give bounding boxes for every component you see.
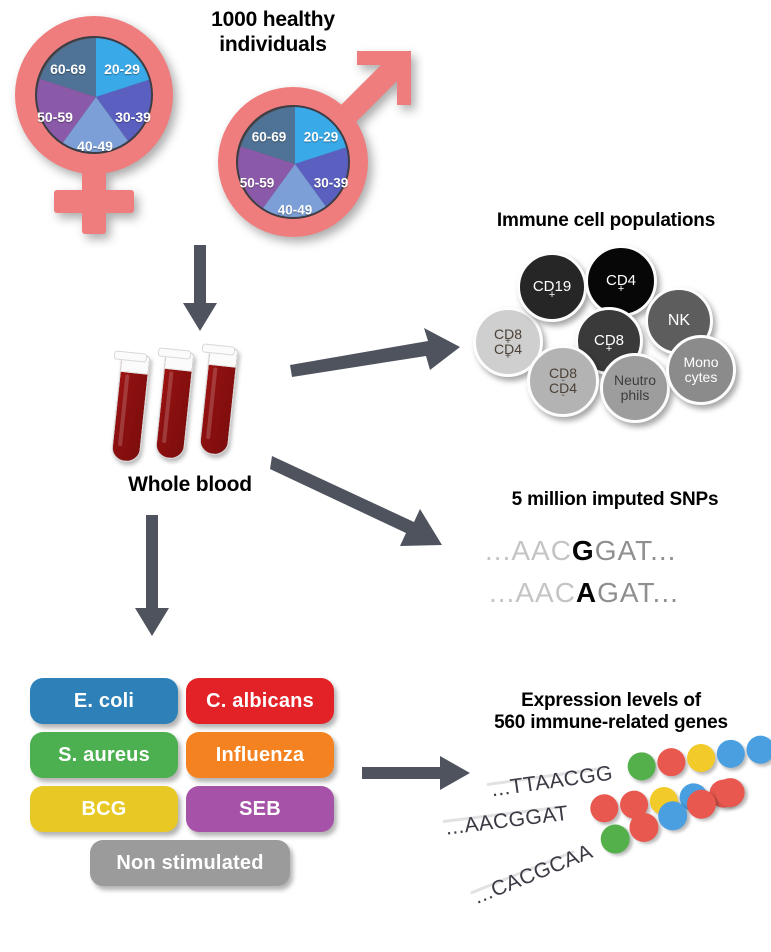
gene-bead-yellow — [685, 742, 717, 774]
snp-allele-2-prefix: ...AAC — [489, 577, 576, 608]
female-symbol-crossbar — [54, 190, 134, 213]
blood-tube-lip — [114, 350, 148, 362]
snp-allele-2-variant: A — [576, 577, 597, 608]
snp-allele-1: ...AACGGAT... — [485, 535, 676, 567]
stimulus-influenza[interactable]: Influenza — [186, 732, 334, 778]
snp-allele-2-suffix: GAT... — [597, 577, 679, 608]
arrow-blood-to-stimuli — [132, 515, 174, 640]
female-gender-symbol: 20-29 30-39 40-49 50-59 60-69 — [8, 14, 188, 234]
gene-bead-red — [589, 793, 620, 824]
immune-cells-title: Immune cell populations — [448, 210, 764, 232]
arrow-blood-to-immune-cells — [288, 325, 463, 385]
immune-cell-line: cytes — [683, 370, 718, 385]
female-pie-svg — [37, 38, 153, 154]
stimulus-c-albicans[interactable]: C. albicans — [186, 678, 334, 724]
immune-cell-line: Mono — [683, 355, 718, 370]
stimulus-label: Influenza — [216, 744, 304, 767]
blood-tube-lip — [202, 343, 236, 355]
immune-cells-cluster: CD8+ CD4+ CD19+ CD4+ NK CD8+ CD8- CD4- — [455, 245, 771, 425]
stimulus-label: S. aureus — [58, 744, 150, 767]
snp-allele-2: ...AACAGAT... — [489, 577, 679, 609]
gene-expression-title: Expression levels of 560 immune-related … — [455, 690, 767, 735]
gene-strand-sequence: ...CACGCAA — [470, 840, 596, 910]
blood-tube — [110, 353, 150, 463]
gene-bead-blue — [745, 734, 771, 766]
immune-cell-line: CD19+ — [533, 279, 571, 295]
stimulus-label: C. albicans — [206, 690, 314, 713]
immune-cell-line: CD8- — [549, 366, 577, 381]
stimulus-e-coli[interactable]: E. coli — [30, 678, 178, 724]
cohort-title-line1: 1000 healthy — [178, 8, 368, 33]
gene-bead-red — [656, 746, 688, 778]
blood-tube-lip — [158, 347, 192, 359]
blood-tube — [198, 346, 238, 456]
stimulus-s-aureus[interactable]: S. aureus — [30, 732, 178, 778]
immune-cell-line: CD4+ — [494, 342, 522, 357]
gene-strand-sequence: ...AACGGAT — [444, 802, 570, 841]
figure-canvas: 1000 healthy individuals 20-29 30-39 40-… — [0, 0, 771, 922]
male-gender-symbol: 20-29 30-39 40-49 50-59 60-69 — [205, 45, 420, 240]
male-pie-svg — [238, 107, 350, 219]
gene-bead-blue — [715, 738, 747, 770]
immune-cell-neutrophils[interactable]: Neutro phils — [600, 353, 670, 423]
stimulus-label: SEB — [239, 798, 281, 821]
snp-sequences: ...AACGGAT... ...AACAGAT... — [485, 535, 750, 617]
snp-allele-1-suffix: GAT... — [595, 535, 677, 566]
stimulus-bcg[interactable]: BCG — [30, 786, 178, 832]
arrow-blood-to-snps — [270, 450, 460, 555]
female-age-pie — [35, 36, 153, 154]
immune-cell-line: CD4+ — [606, 273, 636, 289]
whole-blood-tubes — [108, 340, 273, 465]
immune-cell-line: CD8+ — [494, 327, 522, 342]
stimuli-panel: E. coli C. albicans S. aureus Influenza … — [30, 678, 350, 893]
gene-expression-title-line1: Expression levels of — [455, 690, 767, 712]
immune-cell-cd19pos[interactable]: CD19+ — [517, 252, 587, 322]
gene-expression-strands: ...TTAACGG ...AACGGAT ...CACGCAA — [440, 745, 771, 905]
snp-allele-1-variant: G — [572, 535, 595, 566]
immune-cell-line: Neutro — [614, 373, 656, 388]
snps-title: 5 million imputed SNPs — [460, 489, 770, 511]
arrow-cohort-to-blood — [180, 245, 220, 335]
stimulus-label: E. coli — [74, 690, 134, 713]
immune-cell-line: NK — [668, 313, 690, 330]
immune-cell-monocytes[interactable]: Mono cytes — [666, 335, 736, 405]
immune-cell-line: phils — [614, 388, 656, 403]
whole-blood-label: Whole blood — [80, 473, 300, 498]
gene-expression-title-line2: 560 immune-related genes — [455, 712, 767, 734]
stimulus-label: Non stimulated — [116, 852, 263, 875]
stimulus-label: BCG — [81, 798, 126, 821]
immune-cell-cd4pos[interactable]: CD4+ — [585, 245, 657, 317]
immune-cell-line: CD4- — [549, 381, 577, 396]
gene-bead-green — [626, 751, 658, 783]
male-age-pie — [236, 105, 350, 219]
snp-allele-1-prefix: ...AAC — [485, 535, 572, 566]
blood-tube — [154, 350, 194, 460]
stimulus-seb[interactable]: SEB — [186, 786, 334, 832]
stimulus-non-stimulated[interactable]: Non stimulated — [90, 840, 290, 886]
immune-cell-cd8neg-cd4neg[interactable]: CD8- CD4- — [527, 345, 599, 417]
immune-cell-line: CD8+ — [594, 333, 624, 349]
